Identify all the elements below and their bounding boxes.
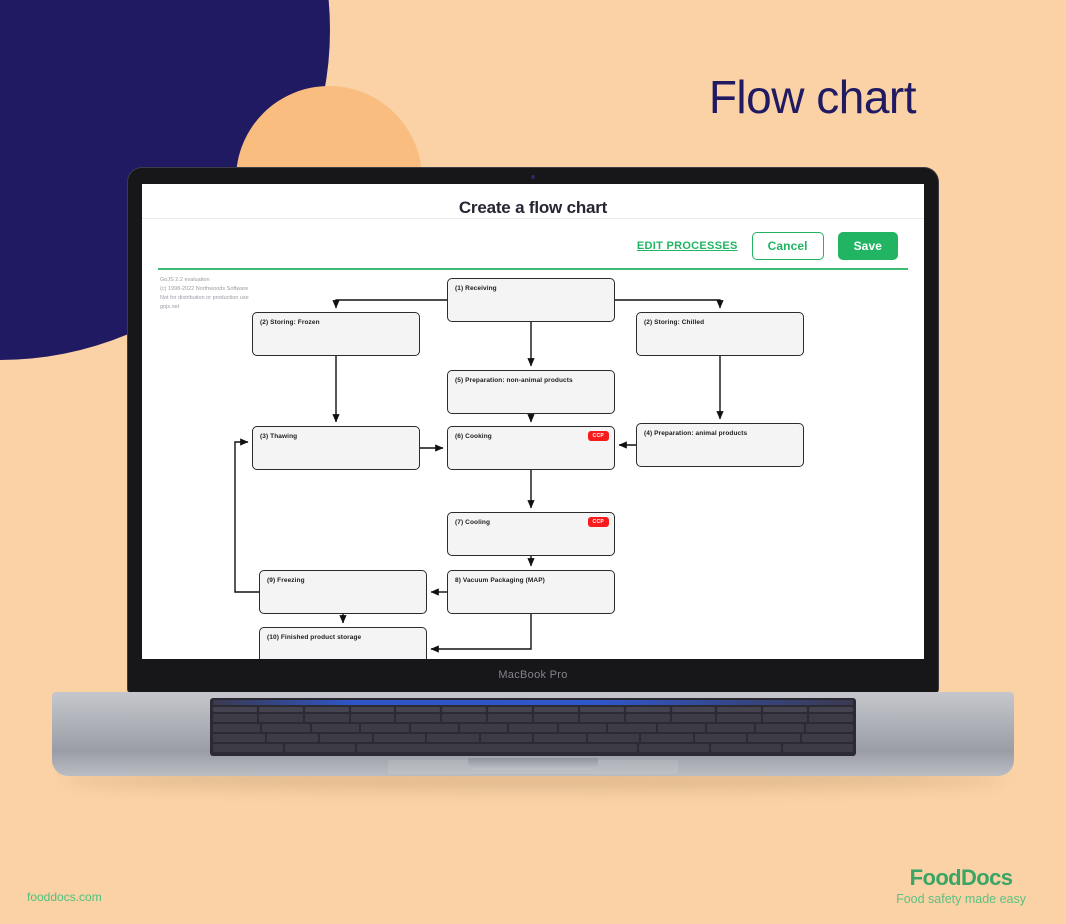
key	[213, 734, 265, 742]
key	[320, 734, 372, 742]
flow-node: (6) Cooking CCP	[447, 426, 615, 470]
key	[695, 734, 747, 742]
key	[756, 724, 803, 732]
laptop-lid: Create a flow chart EDIT PROCESSES Cance…	[128, 168, 938, 693]
ccp-badge: CCP	[588, 517, 609, 527]
key	[361, 724, 408, 732]
key	[374, 734, 426, 742]
key	[305, 707, 349, 712]
key	[213, 714, 257, 722]
node-label: (10) Finished product storage	[267, 634, 361, 641]
watermark-line-3: Not for distribution or production use	[160, 294, 249, 303]
key	[534, 707, 578, 712]
flow-node: (7) Cooling CCP	[447, 512, 615, 556]
flow-node: (5) Preparation: non-animal products	[447, 370, 615, 414]
key	[626, 714, 670, 722]
node-label: (1) Receiving	[455, 285, 497, 292]
key	[285, 744, 355, 752]
keyboard-row	[210, 734, 856, 742]
edge-receiving-to-storing-chilled	[615, 300, 720, 308]
key	[534, 714, 578, 722]
key	[488, 714, 532, 722]
key	[707, 724, 754, 732]
key	[580, 707, 624, 712]
flow-node: (10) Finished product storage	[259, 627, 427, 659]
flow-node: (4) Preparation: animal products	[636, 423, 804, 467]
edge-vacuum-to-finished-storage	[431, 614, 531, 649]
app-page-title: Create a flow chart	[142, 198, 924, 218]
diagram-canvas[interactable]: GoJS 2.2 evaluation (c) 1998-2022 Northw…	[142, 270, 924, 659]
key	[213, 724, 260, 732]
key	[763, 714, 807, 722]
node-label: (6) Cooking	[455, 433, 492, 440]
key	[580, 714, 624, 722]
edge-receiving-to-storing-frozen	[336, 300, 447, 308]
key	[608, 724, 655, 732]
key	[460, 724, 507, 732]
key	[213, 707, 257, 712]
page-title: Flow chart	[709, 74, 916, 120]
node-label: (2) Storing: Chilled	[644, 319, 704, 326]
watermark-line-4: gojs.net	[160, 303, 249, 312]
keyboard-row	[210, 744, 856, 752]
footer-url[interactable]: fooddocs.com	[27, 890, 102, 904]
fooddocs-app: Create a flow chart EDIT PROCESSES Cance…	[142, 184, 924, 659]
laptop-brand-label: MacBook Pro	[128, 669, 938, 681]
key	[357, 744, 637, 752]
key	[259, 714, 303, 722]
key	[259, 707, 303, 712]
node-label: (3) Thawing	[260, 433, 297, 440]
fooddocs-logo: FoodDocs	[896, 866, 1026, 890]
key	[351, 714, 395, 722]
key	[509, 724, 556, 732]
laptop-keyboard	[210, 698, 856, 756]
key	[588, 734, 640, 742]
flow-node: (9) Freezing	[259, 570, 427, 614]
keyboard-row	[210, 707, 856, 712]
laptop-mockup: Create a flow chart EDIT PROCESSES Cance…	[52, 168, 1014, 798]
key	[312, 724, 359, 732]
footer-branding: FoodDocs Food safety made easy	[896, 866, 1026, 906]
key	[442, 714, 486, 722]
flow-node: (2) Storing: Frozen	[252, 312, 420, 356]
key	[427, 734, 479, 742]
key	[672, 707, 716, 712]
flow-node: (2) Storing: Chilled	[636, 312, 804, 356]
flow-node: (3) Thawing	[252, 426, 420, 470]
key	[809, 714, 853, 722]
key	[213, 744, 283, 752]
poster-canvas: Flow chart Create a flow chart EDIT PROC…	[0, 0, 1066, 924]
header-divider	[142, 218, 924, 219]
touch-bar	[213, 700, 853, 705]
flow-node: 8) Vacuum Packaging (MAP)	[447, 570, 615, 614]
key	[481, 734, 533, 742]
node-label: 8) Vacuum Packaging (MAP)	[455, 577, 545, 584]
key	[658, 724, 705, 732]
key	[806, 724, 853, 732]
node-label: (4) Preparation: animal products	[644, 430, 747, 437]
key	[267, 734, 319, 742]
watermark-line-2: (c) 1998-2022 Northwoods Software	[160, 285, 249, 294]
key	[351, 707, 395, 712]
cancel-button[interactable]: Cancel	[752, 232, 824, 260]
key	[639, 744, 709, 752]
laptop-screen: Create a flow chart EDIT PROCESSES Cance…	[142, 184, 924, 659]
save-button[interactable]: Save	[838, 232, 898, 260]
key	[442, 707, 486, 712]
node-label: (9) Freezing	[267, 577, 305, 584]
node-label: (2) Storing: Frozen	[260, 319, 320, 326]
key	[396, 707, 440, 712]
edit-processes-link[interactable]: EDIT PROCESSES	[637, 240, 738, 252]
laptop-base	[52, 692, 1014, 776]
webcam-icon	[531, 175, 535, 179]
laptop-trackpad	[388, 760, 678, 774]
key	[262, 724, 309, 732]
key	[534, 734, 586, 742]
gojs-watermark: GoJS 2.2 evaluation (c) 1998-2022 Northw…	[160, 276, 249, 312]
key	[396, 714, 440, 722]
key	[488, 707, 532, 712]
brand-tagline: Food safety made easy	[896, 892, 1026, 906]
key	[717, 714, 761, 722]
key	[783, 744, 853, 752]
keyboard-row	[210, 714, 856, 722]
key	[641, 734, 693, 742]
ccp-badge: CCP	[588, 431, 609, 441]
key	[717, 707, 761, 712]
watermark-line-1: GoJS 2.2 evaluation	[160, 276, 249, 285]
action-bar: EDIT PROCESSES Cancel Save	[637, 232, 898, 260]
key	[559, 724, 606, 732]
key	[748, 734, 800, 742]
key	[809, 707, 853, 712]
key	[802, 734, 854, 742]
keyboard-row	[210, 724, 856, 732]
flow-node: (1) Receiving	[447, 278, 615, 322]
node-label: (5) Preparation: non-animal products	[455, 377, 573, 384]
key	[763, 707, 807, 712]
key	[672, 714, 716, 722]
node-label: (7) Cooling	[455, 519, 490, 526]
key	[305, 714, 349, 722]
key	[411, 724, 458, 732]
key	[626, 707, 670, 712]
key	[711, 744, 781, 752]
